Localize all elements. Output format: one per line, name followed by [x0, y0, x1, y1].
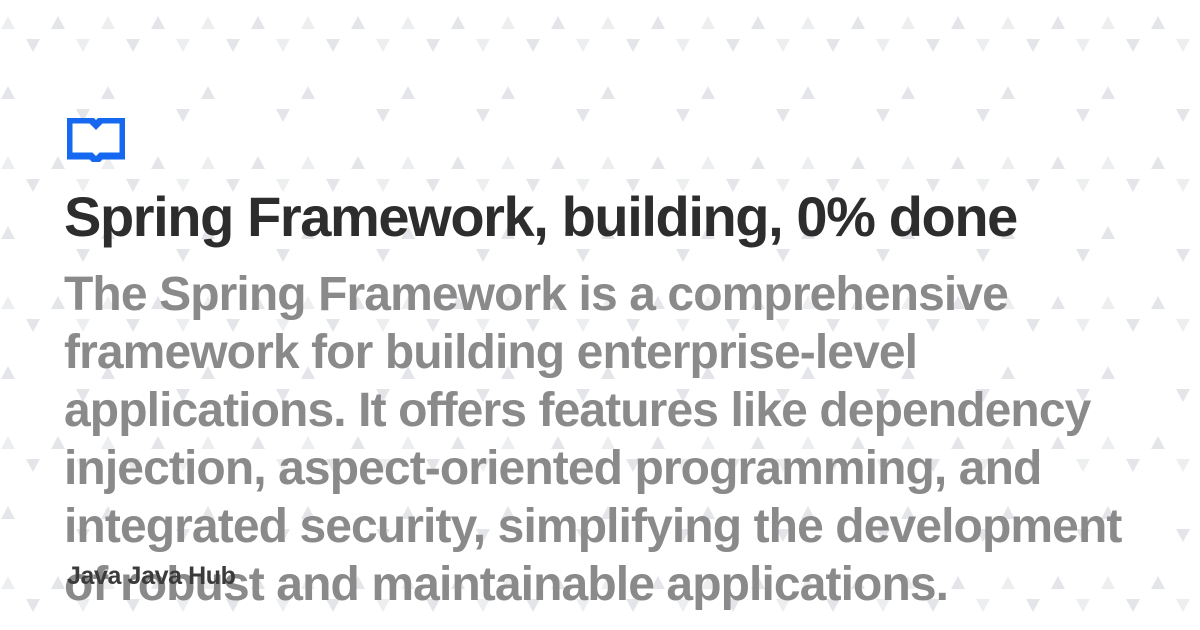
open-book-icon — [67, 118, 125, 162]
page-title: Spring Framework, building, 0% done — [64, 182, 1074, 252]
share-card: Spring Framework, building, 0% done The … — [0, 0, 1200, 630]
footer-brand-name: Java Java Hub — [67, 561, 236, 591]
brand-logo[interactable] — [67, 118, 125, 162]
